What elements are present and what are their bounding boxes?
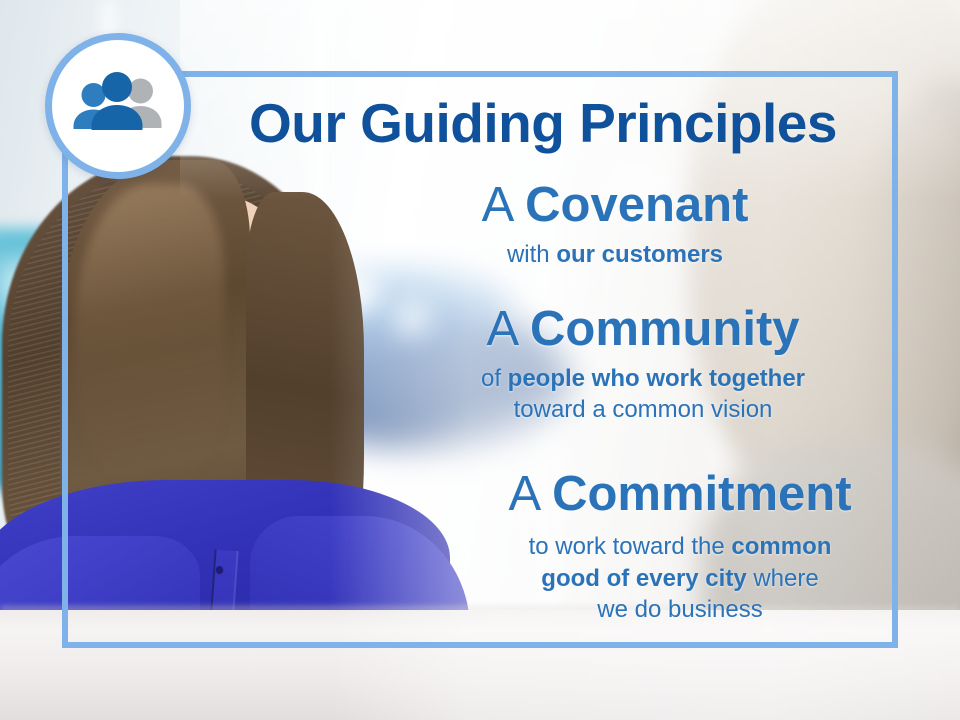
principle-subtext: of people who work togethertoward a comm… [386, 363, 900, 425]
plain-text: toward a common vision [514, 396, 773, 423]
principle-article: A [486, 302, 530, 356]
plain-text: with [507, 241, 556, 268]
plain-text: we do business [597, 596, 762, 623]
principle-subtext-line: we do business [460, 594, 900, 625]
people-group-badge [45, 33, 191, 179]
principle-article: A [508, 467, 552, 521]
principle-subtext: with our customers [330, 239, 900, 270]
principles-list: A Covenant with our customers A Communit… [300, 180, 900, 625]
principle-subtext-line: of people who work together [386, 363, 900, 394]
principle-community: A Community of people who work togethert… [386, 304, 900, 425]
emphasis-text: our customers [556, 241, 723, 268]
principle-covenant: A Covenant with our customers [330, 180, 900, 270]
principle-word: Commitment [552, 467, 851, 521]
principle-subtext-line: good of every city where [460, 563, 900, 594]
principle-headline: A Covenant [330, 180, 900, 232]
principle-subtext-line: toward a common vision [386, 394, 900, 425]
people-group-icon [66, 70, 170, 142]
emphasis-text: people who work together [508, 365, 805, 392]
principle-word: Community [530, 302, 800, 356]
guiding-principles-graphic: FLOW AUTOMOTIVE FLOW [0, 0, 960, 720]
emphasis-text: common [731, 533, 831, 560]
principle-article: A [482, 178, 526, 232]
principle-commitment: A Commitment to work toward the commongo… [460, 469, 900, 625]
plain-text: to work toward the [529, 533, 732, 560]
principle-subtext-line: with our customers [330, 239, 900, 270]
principle-subtext: to work toward the commongood of every c… [460, 531, 900, 625]
page-title: Our Guiding Principles [213, 96, 873, 151]
principle-headline: A Community [386, 304, 900, 356]
principle-subtext-line: to work toward the common [460, 531, 900, 562]
principle-word: Covenant [525, 178, 748, 232]
plain-text: where [747, 565, 819, 592]
principle-headline: A Commitment [460, 469, 900, 521]
emphasis-text: good of every city [541, 565, 746, 592]
plain-text: of [481, 365, 508, 392]
